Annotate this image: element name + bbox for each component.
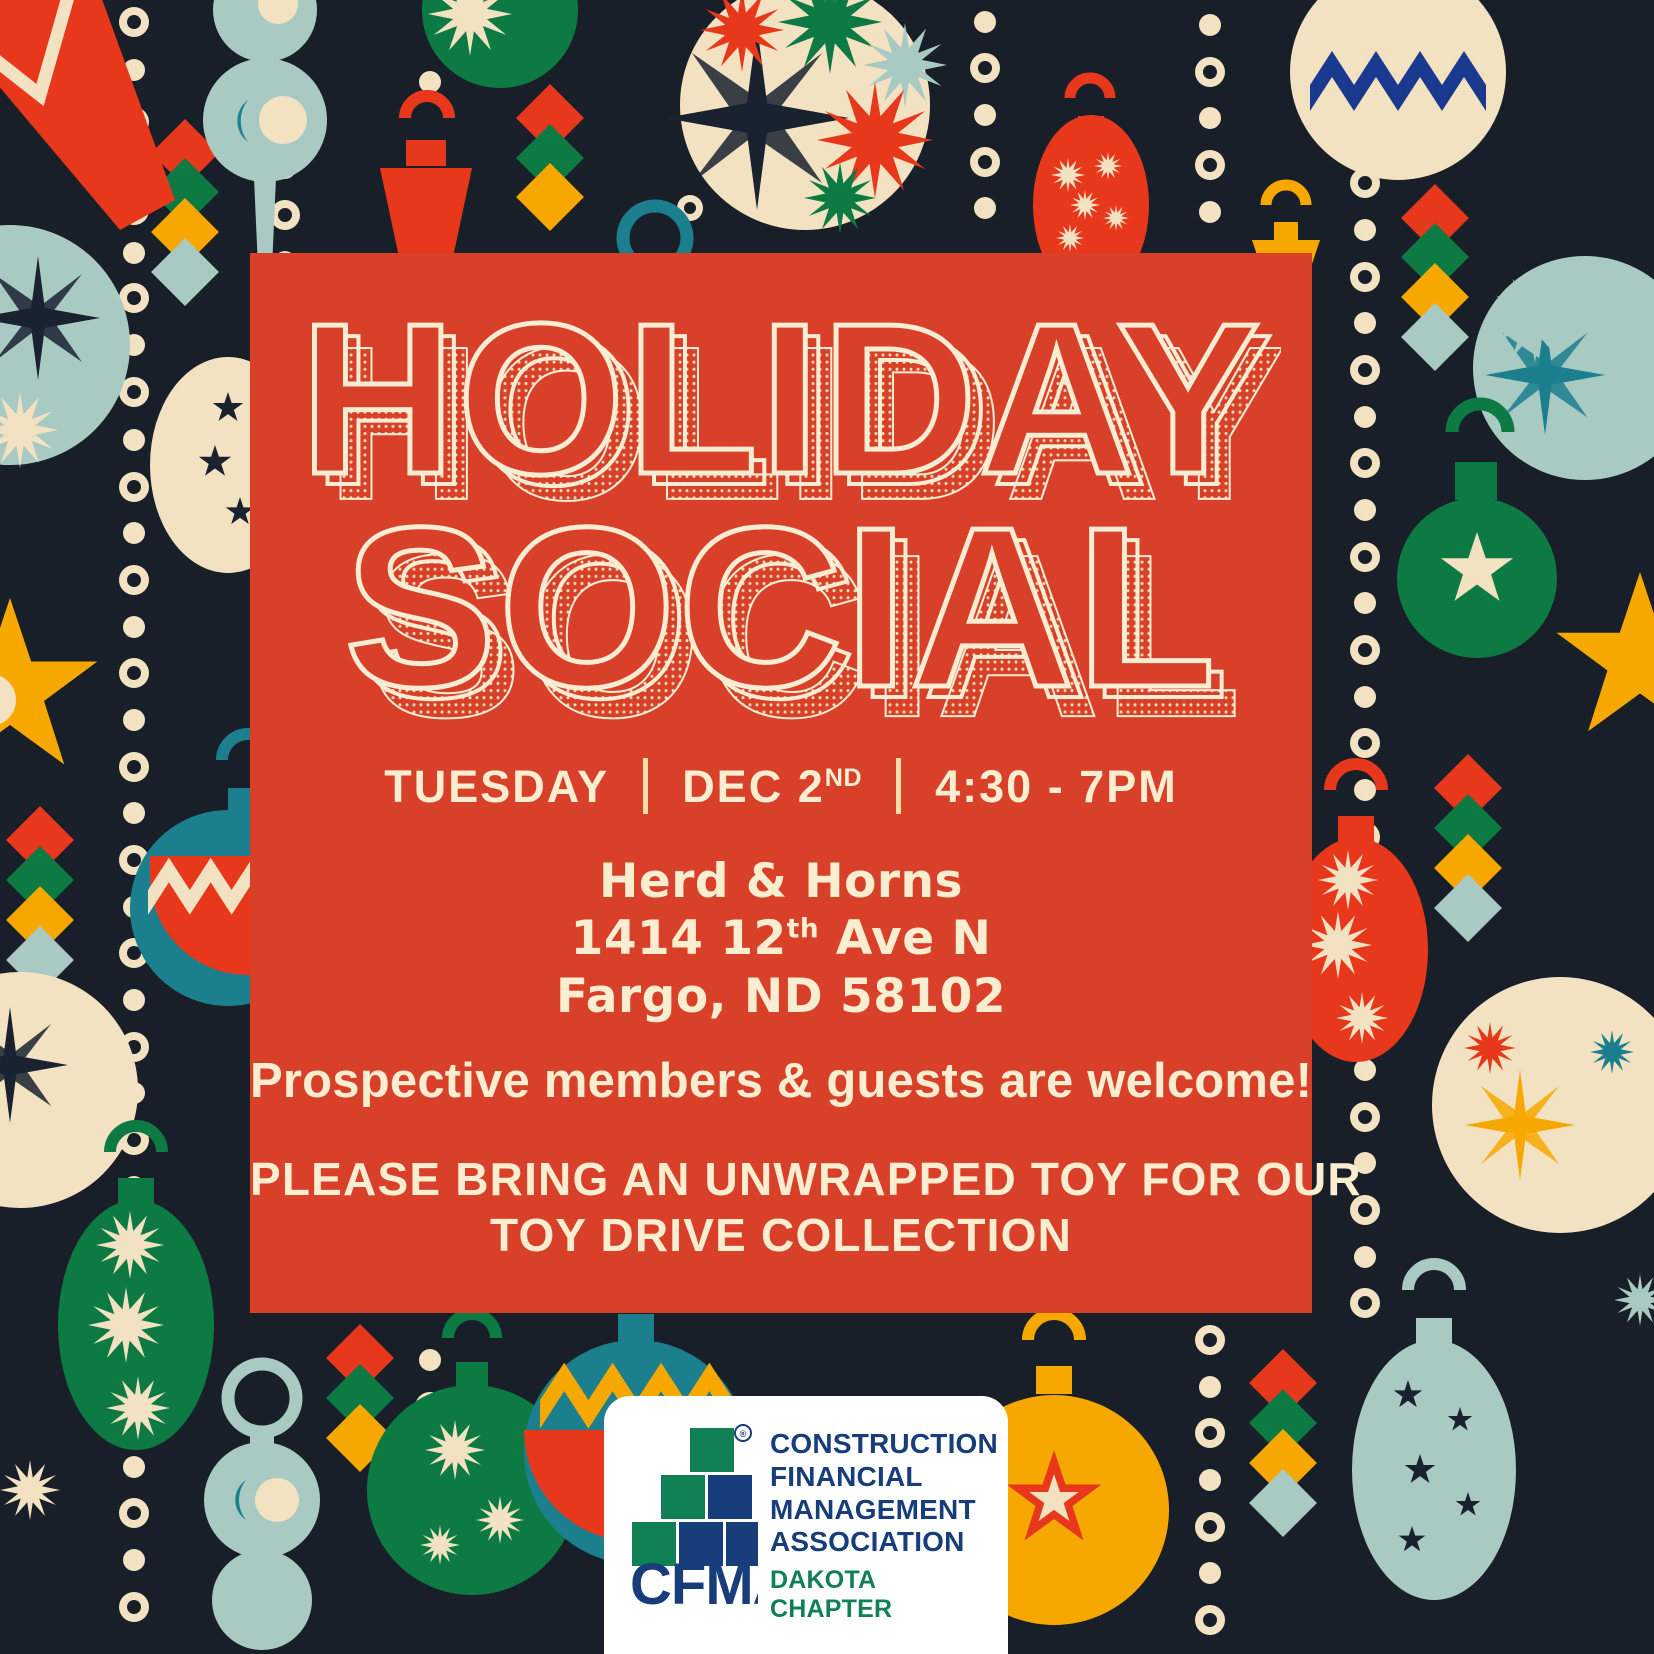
venue-street-number: 1414 12	[571, 911, 787, 966]
cfma-line-management: MANAGEMENT	[770, 1494, 998, 1527]
date-divider-1	[643, 758, 648, 814]
cfma-chapter-dakota: DAKOTA	[770, 1566, 998, 1595]
toy-drive-message: PLEASE BRING AN UNWRAPPED TOY FOR OUR TO…	[250, 1151, 1312, 1263]
title-artwork: HOLIDAY HOLIDAY HOLIDAY SOCIAL SOCIAL SO…	[281, 281, 1281, 741]
event-card: HOLIDAY HOLIDAY HOLIDAY SOCIAL SOCIAL SO…	[250, 253, 1312, 1313]
venue-street-ordinal: th	[787, 915, 819, 945]
event-day: TUESDAY	[384, 764, 609, 809]
svg-text:SOCIAL: SOCIAL	[344, 481, 1217, 735]
venue-name: Herd & Horns	[250, 853, 1312, 910]
venue-street: 1414 12th Ave N	[250, 910, 1312, 967]
event-title: HOLIDAY HOLIDAY HOLIDAY SOCIAL SOCIAL SO…	[250, 281, 1312, 741]
cfma-acronym: CFMA	[630, 1552, 758, 1612]
toy-drive-line-1: PLEASE BRING AN UNWRAPPED TOY FOR OUR	[250, 1151, 1312, 1207]
event-datetime-row: TUESDAY DEC 2ND 4:30 - 7PM	[250, 758, 1312, 814]
venue-street-suffix: Ave N	[819, 911, 991, 966]
registered-trademark-icon: ®	[740, 1429, 747, 1439]
cfma-chapter-label: CHAPTER	[770, 1595, 998, 1624]
cfma-line-association: ASSOCIATION	[770, 1526, 998, 1559]
date-divider-2	[896, 758, 901, 814]
welcome-message: Prospective members & guests are welcome…	[250, 1053, 1312, 1109]
venue-block: Herd & Horns 1414 12th Ave N Fargo, ND 5…	[250, 853, 1312, 1025]
event-date-text: DEC 2	[682, 761, 825, 812]
cfma-line-financial: FINANCIAL	[770, 1461, 998, 1494]
cfma-logo-mark: ® CFMA	[628, 1422, 758, 1612]
venue-city-state-zip: Fargo, ND 58102	[250, 968, 1312, 1025]
event-time: 4:30 - 7PM	[935, 764, 1178, 809]
cfma-text-spacer	[770, 1559, 998, 1566]
cfma-logo-badge: ® CFMA CONSTRUCTION FINANCIAL MANAGEMENT…	[604, 1396, 1008, 1654]
flyer-canvas: HOLIDAY HOLIDAY HOLIDAY SOCIAL SOCIAL SO…	[0, 0, 1654, 1654]
cfma-logo-text: CONSTRUCTION FINANCIAL MANAGEMENT ASSOCI…	[770, 1422, 998, 1625]
event-date-ordinal: ND	[825, 764, 862, 792]
toy-drive-line-2: TOY DRIVE COLLECTION	[250, 1207, 1312, 1263]
cfma-line-construction: CONSTRUCTION	[770, 1428, 998, 1461]
event-date: DEC 2ND	[682, 764, 862, 809]
